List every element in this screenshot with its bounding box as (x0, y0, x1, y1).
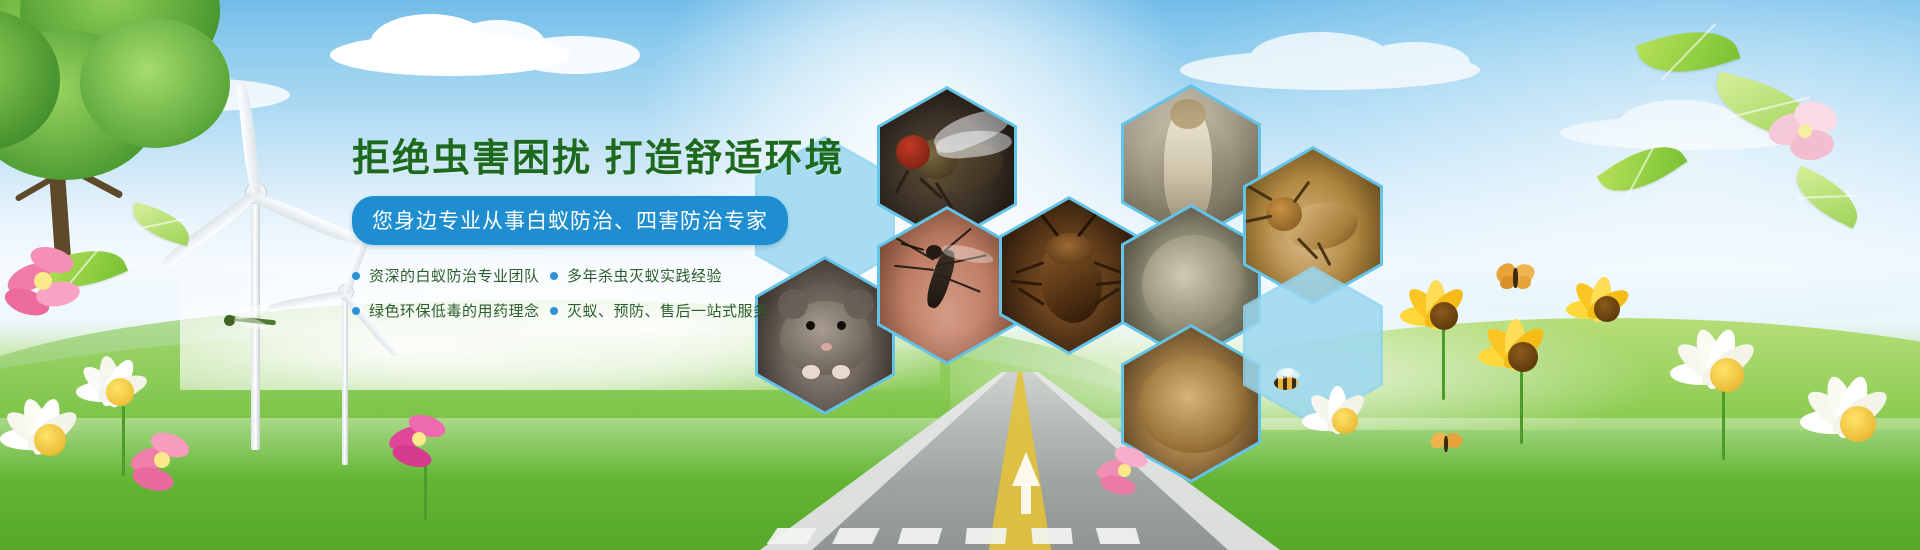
list-item: 灭蚁、预防、售后一站式服务 (550, 300, 772, 321)
flower-daisy-right-1 (1660, 330, 1790, 460)
flower-magenta-bottom (380, 408, 470, 518)
crosswalk-stripe (1031, 528, 1073, 544)
bullet-label: 灭蚁、预防、售后一站式服务 (567, 300, 769, 321)
bee-right (1268, 368, 1304, 396)
bullet-dot-icon (550, 307, 558, 315)
crosswalk-stripe (898, 528, 943, 544)
pest-control-hero-banner: 拒绝虫害困扰 打造舒适环境 您身边专业从事白蚁防治、四害防治专家 资深的白蚁防治… (0, 0, 1920, 550)
flower-daisy-right-2 (1790, 378, 1920, 508)
flower-yellow-right-3 (1556, 276, 1656, 386)
list-item: 多年杀虫灭蚁实践经验 (550, 265, 748, 286)
list-item: 绿色环保低毒的用药理念 (352, 300, 550, 321)
road-arrow-stem (1021, 484, 1031, 514)
crosswalk-stripe (1096, 528, 1141, 544)
flower-pink-bottom-left (122, 424, 218, 520)
list-item: 资深的白蚁防治专业团队 (352, 265, 550, 286)
dragonfly-left (216, 306, 286, 336)
crosswalk-stripe (965, 528, 1007, 544)
hero-copy-block: 拒绝虫害困扰 打造舒适环境 您身边专业从事白蚁防治、四害防治专家 资深的白蚁防治… (352, 140, 782, 335)
road-arrow-head (1012, 452, 1040, 486)
feature-bullet-list: 资深的白蚁防治专业团队 多年杀虫灭蚁实践经验 绿色环保低毒的用药理念 灭蚁、预防… (352, 265, 772, 335)
flower-blossom-top-right (1760, 96, 1850, 176)
hex-mosquito[interactable] (877, 206, 1017, 365)
bullet-label: 资深的白蚁防治专业团队 (369, 265, 540, 286)
bullet-dot-icon (352, 272, 360, 280)
bullet-dot-icon (352, 307, 360, 315)
flower-pink-left (0, 240, 110, 350)
bullet-label: 绿色环保低毒的用药理念 (369, 300, 540, 321)
subtitle-pill: 您身边专业从事白蚁防治、四害防治专家 (352, 196, 788, 245)
page-title: 拒绝虫害困扰 打造舒适环境 (352, 140, 782, 178)
flower-daisy-right-3 (1294, 386, 1394, 496)
crosswalk-stripe (832, 528, 880, 544)
flower-pink-right-small (1090, 440, 1170, 520)
butterfly-right (1496, 260, 1536, 294)
butterfly-bottom-right (1430, 430, 1464, 458)
hex-cockroach[interactable] (999, 196, 1139, 355)
pest-photo-hexagons (755, 108, 1355, 428)
flower-daisy-left-2 (0, 400, 110, 520)
bullet-label: 多年杀虫灭蚁实践经验 (567, 265, 722, 286)
windmill-blade (252, 191, 362, 250)
bullet-dot-icon (550, 272, 558, 280)
